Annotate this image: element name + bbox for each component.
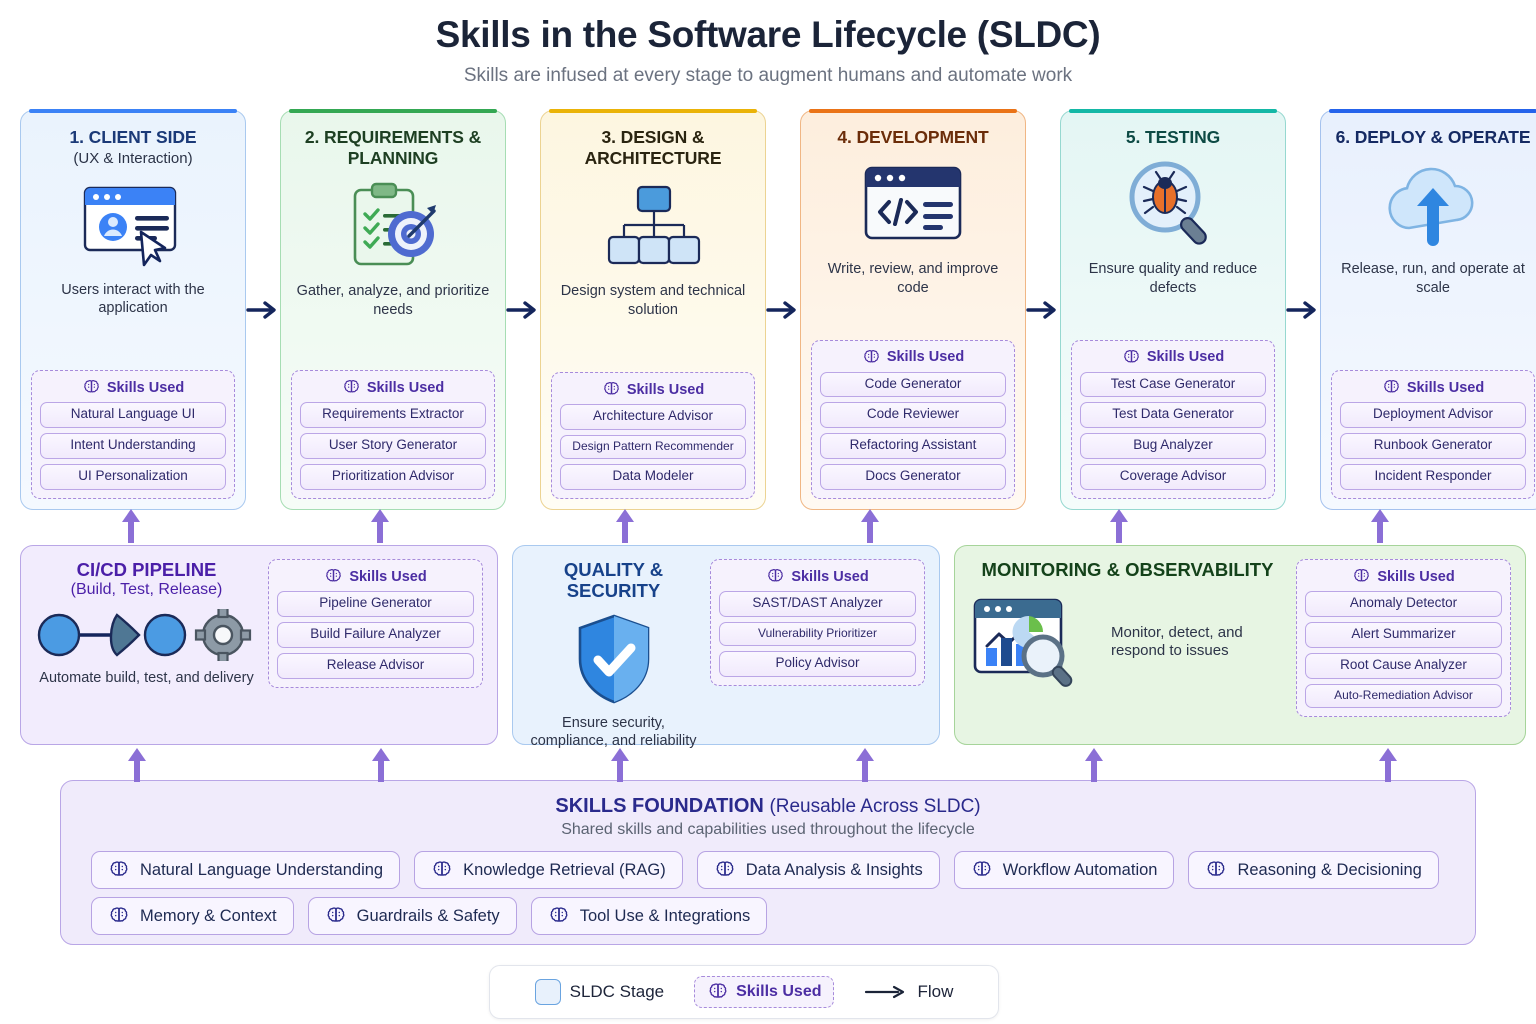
brain-icon	[1352, 567, 1371, 586]
foundation-chip-label: Guardrails & Safety	[357, 907, 500, 926]
foundation-title-normal: (Reusable Across SLDC)	[769, 796, 980, 817]
skills-used-label: Skills Used	[107, 380, 184, 396]
skill-chip[interactable]: Coverage Advisor	[1080, 464, 1266, 490]
mid-panel-content: QUALITY & SECURITYEnsure security, compl…	[527, 559, 710, 731]
legend-stage-label: SLDC Stage	[570, 982, 665, 1002]
foundation-chip-label: Knowledge Retrieval (RAG)	[463, 861, 666, 880]
brain-icon	[82, 378, 101, 397]
panel-to-foundation-arrow-4	[856, 748, 874, 782]
sldc-stage-row: 1. CLIENT SIDE(UX & Interaction)Users in…	[20, 110, 1516, 510]
skills-used-label: Skills Used	[1407, 380, 1484, 396]
pipeline-nodes-gear-icon	[37, 609, 257, 661]
stage-skills-box: Skills UsedNatural Language UIIntent Und…	[31, 370, 235, 499]
foundation-row-1: Natural Language UnderstandingKnowledge …	[91, 851, 1445, 889]
stage-to-panel-arrow-1	[122, 509, 140, 543]
cloud-upload-icon	[1381, 158, 1485, 250]
brain-icon	[1205, 859, 1227, 881]
skill-chip[interactable]: Bug Analyzer	[1080, 433, 1266, 459]
mid-panel-title: CI/CD PIPELINE	[77, 559, 217, 580]
brain-icon	[548, 905, 570, 927]
skill-chip[interactable]: Intent Understanding	[40, 433, 226, 459]
skill-chip[interactable]: Architecture Advisor	[560, 404, 746, 430]
stage-to-panel-arrow-6	[1371, 509, 1389, 543]
foundation-subtitle: Shared skills and capabilities used thro…	[91, 821, 1445, 839]
skills-used-label: Skills Used	[1377, 569, 1454, 585]
foundation-chip[interactable]: Workflow Automation	[954, 851, 1175, 889]
stage-card-4[interactable]: 4. DEVELOPMENTWrite, review, and improve…	[800, 110, 1026, 510]
brain-icon	[108, 905, 130, 927]
panel-to-foundation-arrow-1	[128, 748, 146, 782]
code-window-icon	[861, 158, 965, 250]
skills-used-header: Skills Used	[820, 348, 1006, 367]
skills-used-label: Skills Used	[791, 569, 868, 585]
foundation-title: SKILLS FOUNDATION (Reusable Across SLDC)	[91, 795, 1445, 818]
mid-panel-title: MONITORING & OBSERVABILITY	[982, 559, 1274, 580]
foundation-chip[interactable]: Data Analysis & Insights	[697, 851, 940, 889]
stage-swatch-icon	[535, 979, 561, 1005]
stage-card-2[interactable]: 2. REQUIREMENTS & PLANNINGGather, analyz…	[280, 110, 506, 510]
skill-chip[interactable]: Test Data Generator	[1080, 402, 1266, 428]
flow-arrow-icon	[1026, 110, 1060, 510]
stage-description: Gather, analyze, and prioritize needs	[291, 282, 495, 322]
foundation-chip[interactable]: Guardrails & Safety	[308, 897, 517, 935]
skills-used-label: Skills Used	[627, 382, 704, 398]
brain-icon	[342, 378, 361, 397]
page-title: Skills in the Software Lifecycle (SLDC)	[0, 14, 1536, 56]
skills-foundation-panel: SKILLS FOUNDATION (Reusable Across SLDC)…	[60, 780, 1476, 945]
stage-title: 1. CLIENT SIDE	[70, 127, 197, 148]
stage-description: Ensure quality and reduce defects	[1071, 260, 1275, 300]
brain-icon	[707, 981, 729, 1003]
panel-to-foundation-arrow-6	[1379, 748, 1397, 782]
stage-accent-bar	[29, 109, 237, 113]
skill-chip[interactable]: Vulnerability Prioritizer	[719, 622, 916, 646]
mid-panel-skills-box: Skills UsedSAST/DAST AnalyzerVulnerabili…	[710, 559, 925, 686]
stage-description: Release, run, and operate at scale	[1331, 260, 1535, 300]
stage-title: 4. DEVELOPMENT	[837, 127, 988, 148]
skill-chip[interactable]: Requirements Extractor	[300, 402, 486, 428]
legend-skills-label: Skills Used	[736, 983, 821, 1001]
mid-panel-description: Automate build, test, and delivery	[39, 669, 253, 687]
skills-used-label: Skills Used	[1147, 349, 1224, 365]
brain-icon	[1122, 348, 1141, 367]
mid-panel-description: Monitor, detect, and respond to issues	[1111, 624, 1286, 662]
skills-used-label: Skills Used	[887, 349, 964, 365]
legend: SLDC Stage Skills Used Flow	[489, 965, 999, 1019]
shield-check-icon	[572, 612, 656, 706]
stage-subtitle: (UX & Interaction)	[73, 150, 192, 168]
skill-chip[interactable]: Anomaly Detector	[1305, 591, 1502, 617]
skills-used-header: Skills Used	[560, 380, 746, 399]
foundation-chip[interactable]: Knowledge Retrieval (RAG)	[414, 851, 683, 889]
clipboard-target-icon	[341, 180, 445, 272]
skill-chip[interactable]: Pipeline Generator	[277, 591, 474, 617]
brain-icon	[714, 859, 736, 881]
flow-arrow-icon	[766, 110, 800, 510]
panel-to-foundation-arrow-5	[1085, 748, 1103, 782]
stage-accent-bar	[1329, 109, 1536, 113]
skills-used-header: Skills Used	[300, 378, 486, 397]
foundation-chip[interactable]: Reasoning & Decisioning	[1188, 851, 1438, 889]
legend-item-skills: Skills Used	[694, 976, 834, 1008]
stage-accent-bar	[289, 109, 497, 113]
skill-chip[interactable]: Code Generator	[820, 372, 1006, 398]
stage-description: Design system and technical solution	[551, 282, 755, 322]
mid-panel-subtitle: (Build, Test, Release)	[71, 580, 223, 599]
hierarchy-tree-icon	[603, 180, 703, 272]
browser-user-cursor-icon	[81, 179, 185, 271]
stage-title: 2. REQUIREMENTS & PLANNING	[291, 127, 495, 170]
brain-icon	[602, 380, 621, 399]
stage-card-5[interactable]: 5. TESTINGEnsure quality and reduce defe…	[1060, 110, 1286, 510]
page-subtitle: Skills are infused at every stage to aug…	[0, 65, 1536, 87]
foundation-chip[interactable]: Memory & Context	[91, 897, 294, 935]
mid-panel-content: MONITORING & OBSERVABILITYMonitor, detec…	[969, 559, 1296, 731]
skill-chip[interactable]: Data Modeler	[560, 464, 746, 490]
stage-to-panel-arrow-3	[616, 509, 634, 543]
panel-to-foundation-arrow-3	[611, 748, 629, 782]
foundation-chip-rows: Natural Language UnderstandingKnowledge …	[91, 851, 1445, 935]
stage-to-panel-arrow-4	[861, 509, 879, 543]
brain-icon	[431, 859, 453, 881]
skill-chip[interactable]: Design Pattern Recommender	[560, 435, 746, 459]
foundation-chip[interactable]: Natural Language Understanding	[91, 851, 400, 889]
panel-to-foundation-arrow-2	[372, 748, 390, 782]
flow-arrow-icon	[1286, 110, 1320, 510]
stage-skills-box: Skills UsedCode GeneratorCode ReviewerRe…	[811, 340, 1015, 499]
skills-used-header: Skills Used	[1340, 378, 1526, 397]
stage-title: 3. DESIGN & ARCHITECTURE	[551, 127, 755, 170]
skill-chip[interactable]: Deployment Advisor	[1340, 402, 1526, 428]
skill-chip[interactable]: Refactoring Assistant	[820, 433, 1006, 459]
foundation-chip-label: Data Analysis & Insights	[746, 861, 923, 880]
skill-chip[interactable]: Docs Generator	[820, 464, 1006, 490]
stage-title: 6. DEPLOY & OPERATE	[1336, 127, 1531, 148]
flow-arrow-icon	[506, 110, 540, 510]
skills-used-header: Skills Used	[1080, 348, 1266, 367]
mid-panel-skills-box: Skills UsedAnomaly DetectorAlert Summari…	[1296, 559, 1511, 717]
skill-chip[interactable]: Test Case Generator	[1080, 372, 1266, 398]
skill-chip[interactable]: Alert Summarizer	[1305, 622, 1502, 648]
stage-skills-box: Skills UsedTest Case GeneratorTest Data …	[1071, 340, 1275, 499]
skill-chip[interactable]: Prioritization Advisor	[300, 464, 486, 490]
dashboard-magnifier-icon	[969, 594, 1087, 690]
stage-to-panel-arrow-5	[1110, 509, 1128, 543]
skills-used-label: Skills Used	[367, 380, 444, 396]
skill-chip[interactable]: Code Reviewer	[820, 402, 1006, 428]
stage-skills-box: Skills UsedDeployment AdvisorRunbook Gen…	[1331, 370, 1535, 499]
skill-chip[interactable]: Incident Responder	[1340, 464, 1526, 490]
stage-skills-box: Skills UsedArchitecture AdvisorDesign Pa…	[551, 372, 755, 499]
mid-panel-skills-box: Skills UsedPipeline GeneratorBuild Failu…	[268, 559, 483, 688]
stage-card-3[interactable]: 3. DESIGN & ARCHITECTUREDesign system an…	[540, 110, 766, 510]
foundation-chip-label: Reasoning & Decisioning	[1237, 861, 1421, 880]
skill-chip[interactable]: Release Advisor	[277, 653, 474, 679]
skills-used-label: Skills Used	[349, 569, 426, 585]
foundation-chip-label: Tool Use & Integrations	[580, 907, 751, 926]
brain-icon	[324, 567, 343, 586]
skill-chip[interactable]: UI Personalization	[40, 464, 226, 490]
stage-card-6[interactable]: 6. DEPLOY & OPERATERelease, run, and ope…	[1320, 110, 1536, 510]
skill-chip[interactable]: Natural Language UI	[40, 402, 226, 428]
skills-used-header: Skills Used	[40, 378, 226, 397]
skill-chip[interactable]: Build Failure Analyzer	[277, 622, 474, 648]
skill-chip[interactable]: User Story Generator	[300, 433, 486, 459]
foundation-title-bold: SKILLS FOUNDATION	[555, 795, 764, 817]
page-header: Skills in the Software Lifecycle (SLDC) …	[0, 0, 1536, 87]
stage-card-1[interactable]: 1. CLIENT SIDE(UX & Interaction)Users in…	[20, 110, 246, 510]
mid-panel-2[interactable]: QUALITY & SECURITYEnsure security, compl…	[512, 545, 940, 745]
bug-magnifier-icon	[1123, 158, 1223, 250]
flow-arrow-icon	[246, 110, 280, 510]
stage-description: Users interact with the application	[31, 281, 235, 321]
mid-panel-1[interactable]: CI/CD PIPELINE(Build, Test, Release)Auto…	[20, 545, 498, 745]
skills-used-header: Skills Used	[719, 567, 916, 586]
foundation-chip-label: Memory & Context	[140, 907, 277, 926]
brain-icon	[325, 905, 347, 927]
mid-panel-content: CI/CD PIPELINE(Build, Test, Release)Auto…	[35, 559, 268, 731]
legend-item-flow: Flow	[864, 982, 953, 1002]
flow-arrow-icon	[864, 984, 908, 1000]
mid-panel-title: QUALITY & SECURITY	[527, 559, 700, 602]
skill-chip[interactable]: Auto-Remediation Advisor	[1305, 684, 1502, 708]
mid-panel-3[interactable]: MONITORING & OBSERVABILITYMonitor, detec…	[954, 545, 1526, 745]
stage-accent-bar	[809, 109, 1017, 113]
cross-cutting-panel-row: CI/CD PIPELINE(Build, Test, Release)Auto…	[20, 545, 1516, 745]
stage-accent-bar	[549, 109, 757, 113]
brain-icon	[1382, 378, 1401, 397]
skills-used-header: Skills Used	[1305, 567, 1502, 586]
skill-chip[interactable]: Policy Advisor	[719, 651, 916, 677]
brain-icon	[971, 859, 993, 881]
brain-icon	[862, 348, 881, 367]
foundation-chip-label: Natural Language Understanding	[140, 861, 383, 880]
stage-accent-bar	[1069, 109, 1277, 113]
skill-chip[interactable]: SAST/DAST Analyzer	[719, 591, 916, 617]
foundation-row-2: Memory & ContextGuardrails & SafetyTool …	[91, 897, 1445, 935]
mid-panel-description: Ensure security, compliance, and reliabi…	[527, 714, 700, 750]
legend-flow-label: Flow	[917, 982, 953, 1002]
foundation-chip-label: Workflow Automation	[1003, 861, 1158, 880]
legend-item-stage: SLDC Stage	[535, 979, 665, 1005]
brain-icon	[108, 859, 130, 881]
mid-panel-body: Monitor, detect, and respond to issues	[969, 594, 1286, 690]
brain-icon	[766, 567, 785, 586]
stage-skills-box: Skills UsedRequirements ExtractorUser St…	[291, 370, 495, 499]
foundation-chip[interactable]: Tool Use & Integrations	[531, 897, 768, 935]
skill-chip[interactable]: Runbook Generator	[1340, 433, 1526, 459]
stage-to-panel-arrow-2	[371, 509, 389, 543]
skill-chip[interactable]: Root Cause Analyzer	[1305, 653, 1502, 679]
skills-used-header: Skills Used	[277, 567, 474, 586]
stage-title: 5. TESTING	[1126, 127, 1220, 148]
stage-description: Write, review, and improve code	[811, 260, 1015, 300]
